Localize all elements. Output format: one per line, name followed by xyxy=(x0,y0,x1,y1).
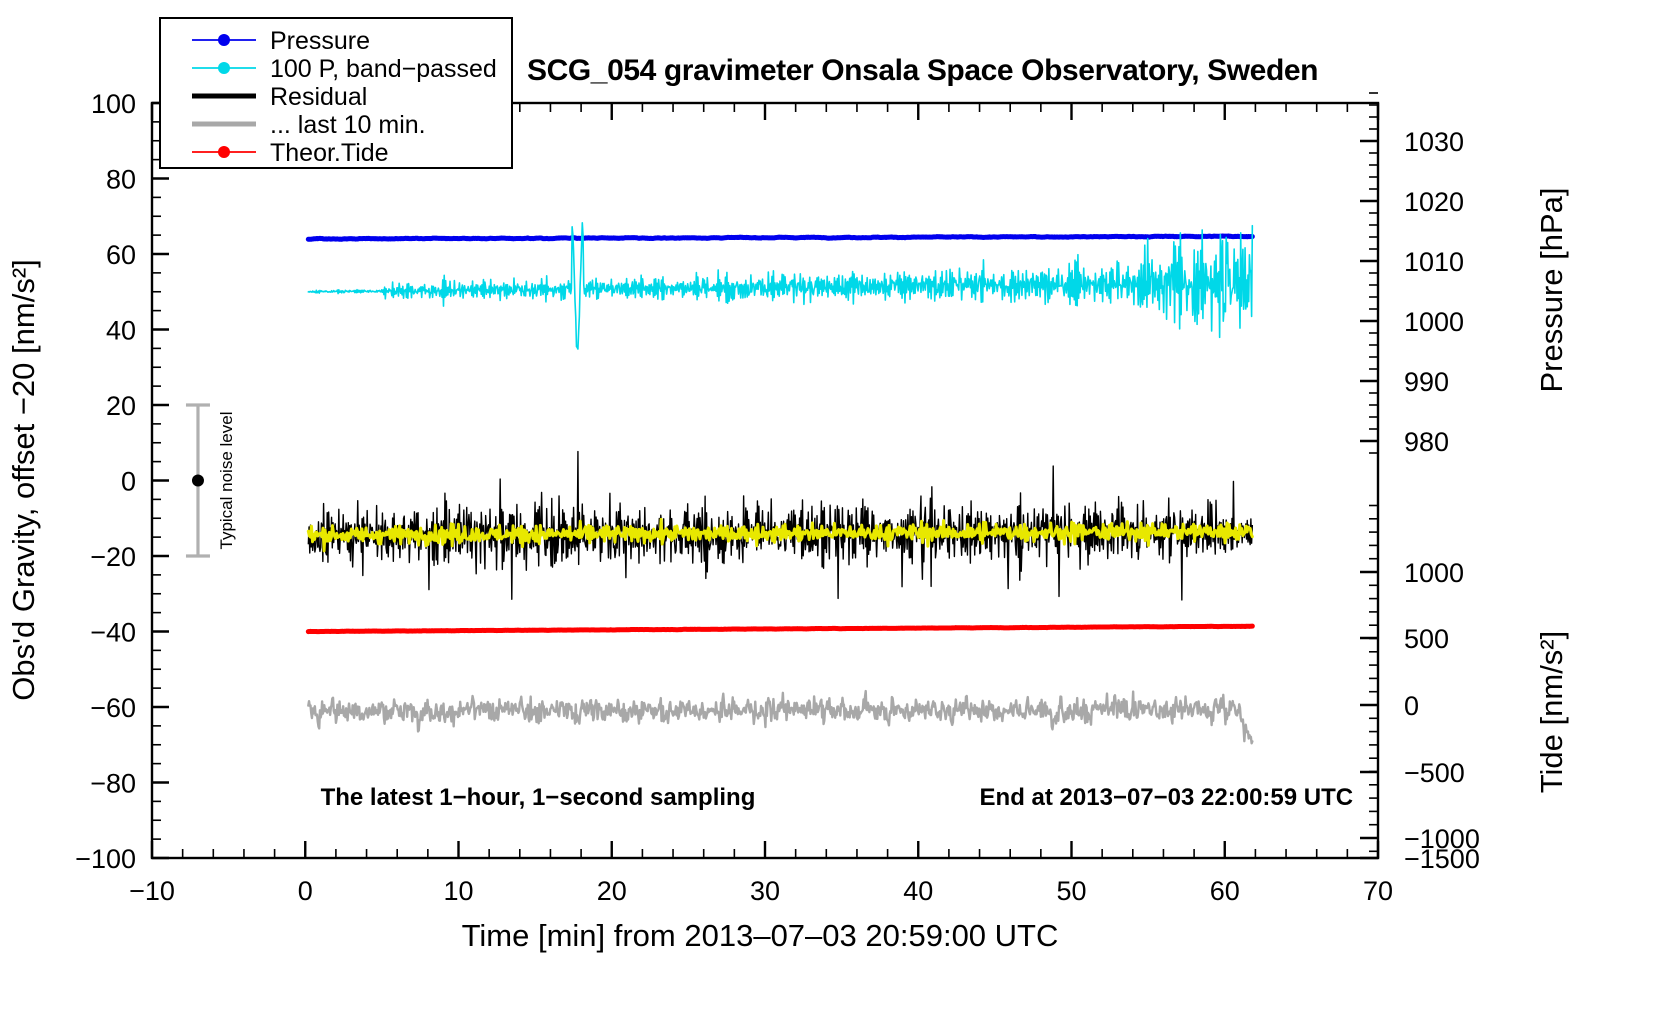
x-tick-label: 50 xyxy=(1056,876,1086,906)
tide-tick-label: 0 xyxy=(1404,691,1419,721)
y-tick-label: −100 xyxy=(75,844,136,874)
y-tick-label: 80 xyxy=(106,165,136,195)
y-tick-label: 20 xyxy=(106,391,136,421)
pressure-tick-label: 1000 xyxy=(1404,307,1464,337)
x-tick-label: 20 xyxy=(597,876,627,906)
y-axis-title-left: Obs'd Gravity, offset −20 [nm/s²] xyxy=(6,259,41,701)
x-axis-title: Time [min] from 2013–07–03 20:59:00 UTC xyxy=(462,918,1059,953)
legend-group[interactable]: Pressure100 P, band−passedResidual... la… xyxy=(160,18,512,168)
gravimeter-time-series-chart: −10010203040506070 100806040200−20−40−60… xyxy=(0,0,1660,1020)
tide-tick-label: −1500 xyxy=(1404,844,1480,874)
y-tick-label: 100 xyxy=(91,89,136,119)
legend-marker-dot xyxy=(218,62,230,74)
x-tick-label: 70 xyxy=(1363,876,1393,906)
y-tick-label: 40 xyxy=(106,316,136,346)
tide-tick-label: 500 xyxy=(1404,624,1449,654)
legend-item-label: Residual xyxy=(270,83,367,111)
y-tick-label: −60 xyxy=(90,693,136,723)
y-tick-label: −20 xyxy=(90,542,136,572)
y-axis-title-pressure: Pressure [hPa] xyxy=(1534,187,1569,392)
pressure-tick-label: 980 xyxy=(1404,427,1449,457)
x-tick-label: 10 xyxy=(443,876,473,906)
y-tick-label: 0 xyxy=(121,467,136,497)
y-tick-label: −80 xyxy=(90,769,136,799)
x-tick-label: 30 xyxy=(750,876,780,906)
pressure-tick-label: 1010 xyxy=(1404,247,1464,277)
legend-item-label: 100 P, band−passed xyxy=(270,55,497,83)
x-tick-label: 0 xyxy=(298,876,313,906)
legend-marker-dot xyxy=(218,34,230,46)
y-tick-label: −40 xyxy=(90,618,136,648)
x-tick-label: 40 xyxy=(903,876,933,906)
legend-item-label: Theor.Tide xyxy=(270,139,389,167)
x-tick-label: 60 xyxy=(1210,876,1240,906)
y-tick-label: 60 xyxy=(106,240,136,270)
pressure-tick-label: 1020 xyxy=(1404,187,1464,217)
chart-page: −10010203040506070 100806040200−20−40−60… xyxy=(0,0,1660,1020)
pressure-tick-label: 1030 xyxy=(1404,127,1464,157)
tide-tick-label: 1000 xyxy=(1404,558,1464,588)
sampling-note-text: The latest 1−hour, 1−second sampling xyxy=(321,784,756,811)
legend-item-label: ... last 10 min. xyxy=(270,111,426,139)
legend-marker-dot xyxy=(218,146,230,158)
tide-tick-label: −500 xyxy=(1404,758,1465,788)
end-time-note-text: End at 2013−07−03 22:00:59 UTC xyxy=(980,784,1354,811)
y-axis-title-tide: Tide [nm/s²] xyxy=(1534,631,1569,794)
noise-level-center-dot xyxy=(192,475,204,487)
legend-item-label: Pressure xyxy=(270,27,370,55)
x-tick-label: −10 xyxy=(129,876,175,906)
plot-title: SCG_054 gravimeter Onsala Space Observat… xyxy=(527,54,1318,87)
pressure-tick-label: 990 xyxy=(1404,367,1449,397)
noise-level-label: Typical noise level xyxy=(217,412,236,550)
series-line-pressure xyxy=(308,236,1252,239)
